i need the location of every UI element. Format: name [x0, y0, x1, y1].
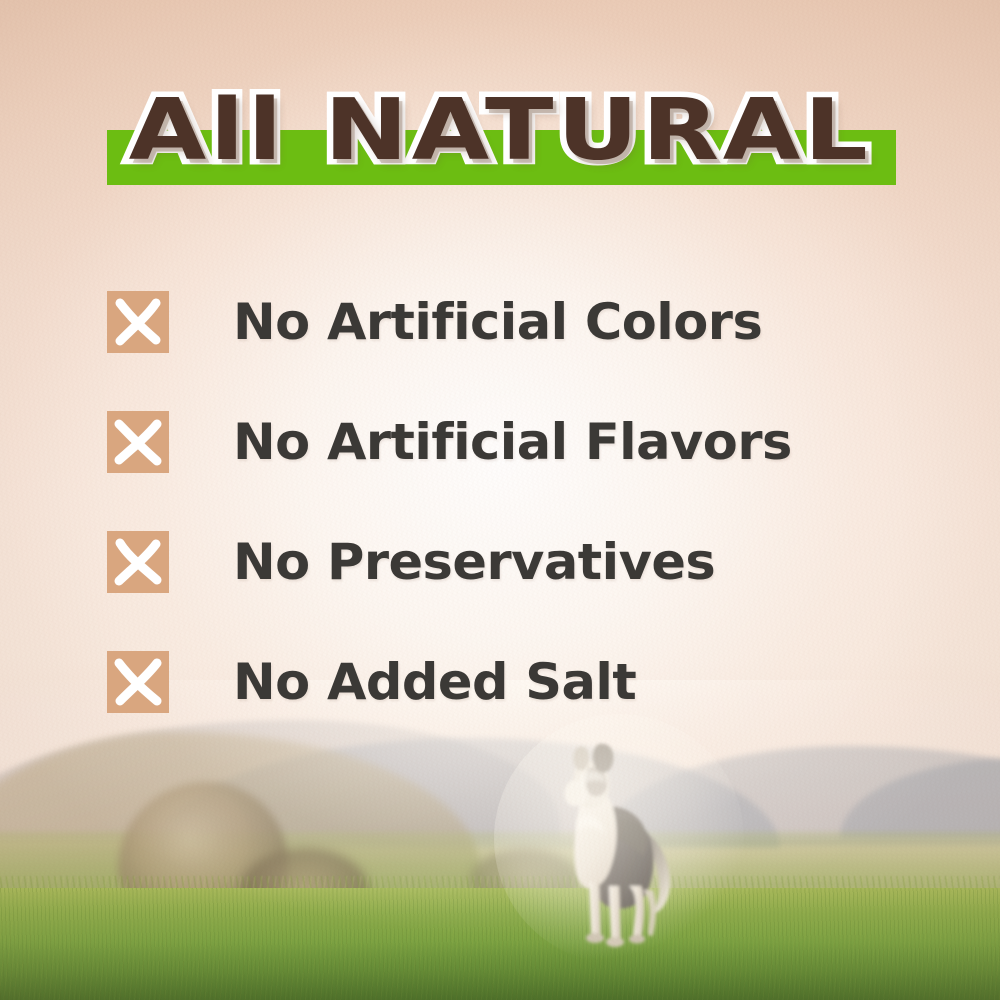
feature-row-artificial-colors: No Artificial Colors — [107, 262, 947, 382]
x-mark-icon — [107, 411, 169, 473]
feature-row-preservatives: No Preservatives — [107, 502, 947, 622]
feature-label: No Artificial Colors — [233, 297, 762, 347]
feature-label: No Artificial Flavors — [233, 417, 792, 467]
feature-label: No Preservatives — [233, 537, 715, 587]
page-title: All NATURAL — [0, 72, 1000, 190]
foreground-grass — [0, 888, 1000, 1000]
feature-label: No Added Salt — [233, 657, 636, 707]
feature-row-artificial-flavors: No Artificial Flavors — [107, 382, 947, 502]
headline-banner: All NATURAL — [0, 72, 1000, 198]
x-mark-icon — [107, 531, 169, 593]
border-collie-dog — [533, 736, 693, 954]
feature-list: No Artificial Colors No Artificial Flavo… — [107, 262, 947, 742]
all-natural-poster: All NATURAL No Artificial Colors — [0, 0, 1000, 1000]
foreground-grass-shadow — [0, 942, 1000, 1000]
x-mark-icon — [107, 651, 169, 713]
x-mark-icon — [107, 291, 169, 353]
feature-row-added-salt: No Added Salt — [107, 622, 947, 742]
